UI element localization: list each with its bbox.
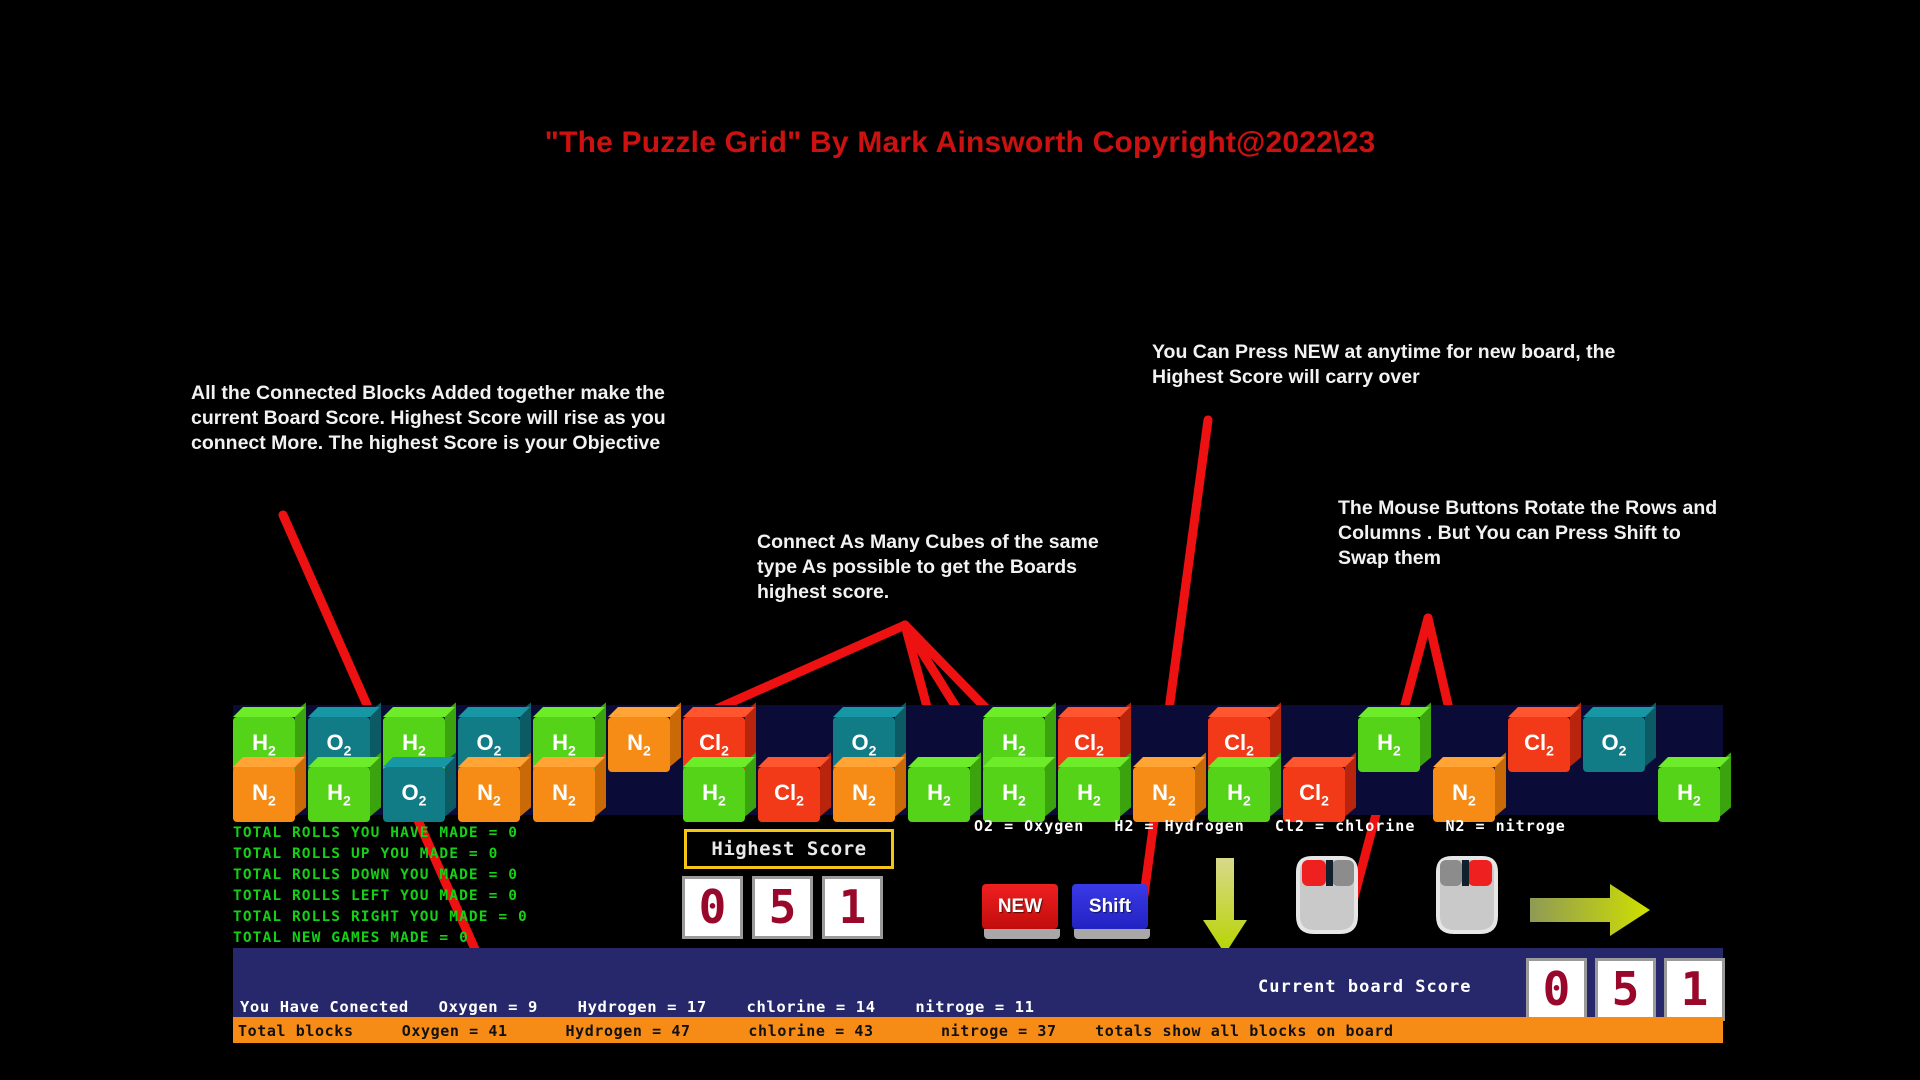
pointer-line-new [1140, 420, 1208, 925]
cube-top [908, 757, 980, 767]
cube-label: N2 [1152, 780, 1176, 808]
cube-h2[interactable]: H2 [1358, 717, 1420, 772]
current-board-score-label: Current board Score [1258, 977, 1471, 997]
annotation-board-score: All the Connected Blocks Added together … [191, 381, 691, 456]
cube-top [233, 757, 305, 767]
cube-top [1208, 707, 1280, 717]
totals-text: Total blocks Oxygen = 41 Hydrogen = 47 c… [238, 1019, 1394, 1043]
cube-label: N2 [552, 780, 576, 808]
cube-label: H2 [927, 780, 951, 808]
cube-label: H2 [327, 780, 351, 808]
cube-label: O2 [477, 730, 502, 758]
highest-score-label: Highest Score [711, 838, 866, 860]
cube-label: N2 [1452, 780, 1476, 808]
cube-cl2[interactable]: Cl2 [758, 767, 820, 822]
cube-top [383, 707, 455, 717]
cube-top [458, 757, 530, 767]
highest-score-digit: 0 [682, 876, 743, 939]
cube-label: O2 [1602, 730, 1627, 758]
cube-h2[interactable]: H2 [983, 767, 1045, 822]
stats-line: TOTAL ROLLS RIGHT YOU MADE = 0 [233, 907, 528, 928]
cube-label: O2 [852, 730, 877, 758]
cube-label: H2 [402, 730, 426, 758]
stats-line: TOTAL ROLLS YOU HAVE MADE = 0 [233, 823, 528, 844]
cube-label: H2 [1377, 730, 1401, 758]
mouse-right-click-icon [1428, 850, 1506, 938]
cube-label: Cl2 [1299, 780, 1329, 808]
cube-top [1133, 757, 1205, 767]
arrow-right-icon [1530, 880, 1650, 940]
cube-label: H2 [702, 780, 726, 808]
current-board-score-digit: 0 [1526, 958, 1587, 1021]
stats-line: TOTAL ROLLS LEFT YOU MADE = 0 [233, 886, 528, 907]
cube-top [1508, 707, 1580, 717]
highest-score-label-box: Highest Score [684, 829, 894, 869]
annotation-new-button: You Can Press NEW at anytime for new boa… [1152, 340, 1622, 390]
cube-label: N2 [627, 730, 651, 758]
current-board-score-digit: 5 [1595, 958, 1656, 1021]
stats-line: TOTAL ROLLS UP YOU MADE = 0 [233, 844, 528, 865]
cube-label: O2 [327, 730, 352, 758]
cube-top [1358, 707, 1430, 717]
cube-h2[interactable]: H2 [683, 767, 745, 822]
cube-top [683, 707, 755, 717]
cube-top [383, 757, 455, 767]
cube-n2[interactable]: N2 [533, 767, 595, 822]
cube-top [758, 757, 830, 767]
new-game-button[interactable]: NEW [982, 884, 1058, 929]
cube-top [1058, 707, 1130, 717]
cube-label: Cl2 [1074, 730, 1104, 758]
cube-top [1583, 707, 1655, 717]
cube-label: H2 [1677, 780, 1701, 808]
cube-label: Cl2 [1224, 730, 1254, 758]
cube-label: Cl2 [699, 730, 729, 758]
cube-h2[interactable]: H2 [1058, 767, 1120, 822]
cube-label: N2 [252, 780, 276, 808]
cube-h2[interactable]: H2 [1658, 767, 1720, 822]
game-board[interactable]: H2O2H2O2H2N2Cl2O2H2Cl2Cl2H2Cl2O2 N2H2O2N… [233, 705, 1723, 815]
cube-label: N2 [852, 780, 876, 808]
cube-label: H2 [1002, 730, 1026, 758]
mouse-left-click-icon [1288, 850, 1366, 938]
highest-score-digit: 1 [822, 876, 883, 939]
cube-label: H2 [1227, 780, 1251, 808]
cube-o2[interactable]: O2 [383, 767, 445, 822]
cube-top [533, 757, 605, 767]
stats-line: TOTAL ROLLS DOWN YOU MADE = 0 [233, 865, 528, 886]
page-title: "The Puzzle Grid" By Mark Ainsworth Copy… [0, 126, 1920, 160]
cube-top [1058, 757, 1130, 767]
current-board-score-digit: 1 [1664, 958, 1725, 1021]
stats-panel: TOTAL ROLLS YOU HAVE MADE = 0TOTAL ROLLS… [233, 823, 528, 949]
current-board-score-digits: 051 [1526, 958, 1725, 1021]
cube-top [1283, 757, 1355, 767]
cube-n2[interactable]: N2 [608, 717, 670, 772]
cube-top [1433, 757, 1505, 767]
element-legend: O2 = Oxygen H2 = Hydrogen Cl2 = chlorine… [974, 817, 1566, 835]
annotation-connect-cubes: Connect As Many Cubes of the same type A… [757, 530, 1137, 605]
cube-top [1208, 757, 1280, 767]
cube-top [683, 757, 755, 767]
cube-h2[interactable]: H2 [1208, 767, 1270, 822]
cube-n2[interactable]: N2 [1133, 767, 1195, 822]
cube-top [233, 707, 305, 717]
cube-n2[interactable]: N2 [458, 767, 520, 822]
shift-button[interactable]: Shift [1072, 884, 1148, 929]
cube-label: Cl2 [1524, 730, 1554, 758]
cube-o2[interactable]: O2 [1583, 717, 1645, 772]
cube-n2[interactable]: N2 [1433, 767, 1495, 822]
cube-top [1658, 757, 1730, 767]
connected-counts-text: You Have Conected Oxygen = 9 Hydrogen = … [240, 998, 1035, 1016]
stats-line: TOTAL NEW GAMES MADE = 0 [233, 928, 528, 949]
cube-top [608, 707, 680, 717]
cube-n2[interactable]: N2 [233, 767, 295, 822]
arrow-down-icon [1203, 858, 1247, 954]
cube-label: O2 [402, 780, 427, 808]
highest-score-digit: 5 [752, 876, 813, 939]
cube-cl2[interactable]: Cl2 [1283, 767, 1345, 822]
cube-label: N2 [477, 780, 501, 808]
cube-top [308, 707, 380, 717]
cube-label: H2 [552, 730, 576, 758]
cube-label: H2 [1077, 780, 1101, 808]
cube-top [533, 707, 605, 717]
cube-n2[interactable]: N2 [833, 767, 895, 822]
cube-h2[interactable]: H2 [308, 767, 370, 822]
cube-top [308, 757, 380, 767]
cube-h2[interactable]: H2 [908, 767, 970, 822]
cube-label: H2 [1002, 780, 1026, 808]
cube-top [833, 757, 905, 767]
cube-label: H2 [252, 730, 276, 758]
cube-label: Cl2 [774, 780, 804, 808]
annotation-mouse-buttons: The Mouse Buttons Rotate the Rows and Co… [1338, 496, 1728, 571]
cube-top [983, 707, 1055, 717]
highest-score-digits: 051 [682, 876, 883, 939]
cube-cl2[interactable]: Cl2 [1508, 717, 1570, 772]
cube-top [458, 707, 530, 717]
cube-top [833, 707, 905, 717]
cube-top [983, 757, 1055, 767]
